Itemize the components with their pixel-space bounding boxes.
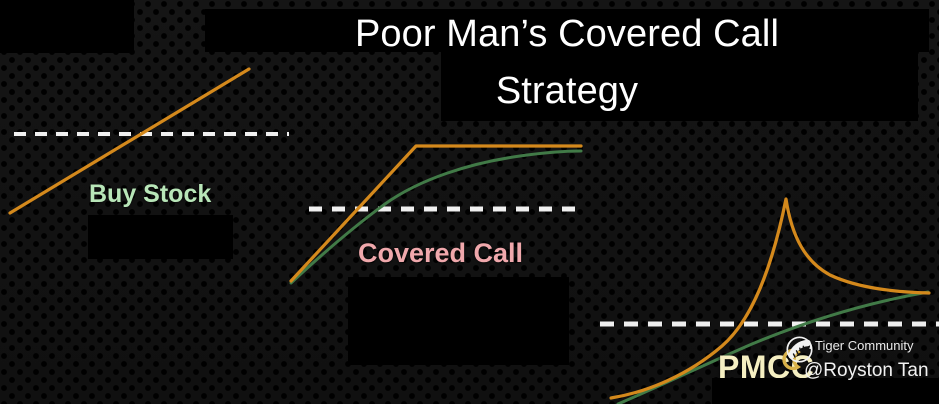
redaction-buy-stock [88,215,233,259]
watermark: Tiger Community @Royston Tan [782,333,939,391]
slide-canvas: Poor Man’s Covered Call Strategy Buy Sto… [0,0,939,404]
label-buy-stock: Buy Stock [89,180,211,209]
watermark-community-label: Tiger Community [815,338,913,353]
label-covered-call: Covered Call [358,238,523,269]
redaction-covered-call [348,277,569,365]
watermark-handle-label: @Royston Tan [804,360,929,382]
